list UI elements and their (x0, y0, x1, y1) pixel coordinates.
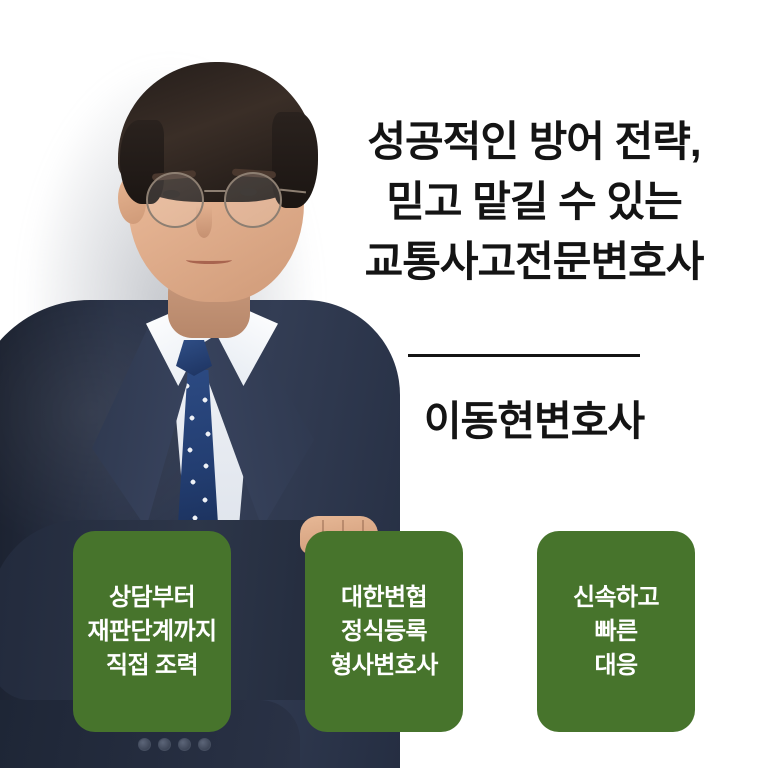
feature-card-1-line-1: 상담부터 (88, 581, 217, 615)
feature-card-3[interactable]: 신속하고 빠른 대응 (537, 531, 695, 732)
headline: 성공적인 방어 전략, 믿고 맡길 수 있는 교통사고전문변호사 (300, 112, 768, 292)
promo-banner: 성공적인 방어 전략, 믿고 맡길 수 있는 교통사고전문변호사 이동현변호사 … (0, 0, 768, 768)
glasses-bridge (204, 190, 226, 192)
nose (196, 206, 212, 238)
feature-card-2-line-2: 정식등록 (330, 615, 437, 649)
feature-card-3-line-2: 빠른 (573, 615, 659, 649)
headline-line-1: 성공적인 방어 전략, (300, 112, 768, 172)
feature-card-3-line-3: 대응 (573, 649, 659, 683)
feature-card-1-line-3: 직접 조력 (88, 649, 217, 683)
feature-card-2-line-3: 형사변호사 (330, 649, 437, 683)
divider (408, 354, 640, 357)
glasses-lens-right (224, 172, 282, 228)
feature-card-1[interactable]: 상담부터 재판단계까지 직접 조력 (73, 531, 231, 732)
glasses-icon (126, 168, 308, 234)
lawyer-name: 이동현변호사 (300, 398, 768, 444)
sleeve-button (158, 738, 171, 751)
feature-card-2[interactable]: 대한변협 정식등록 형사변호사 (305, 531, 463, 732)
feature-card-2-line-1: 대한변협 (330, 581, 437, 615)
feature-card-3-line-1: 신속하고 (573, 581, 659, 615)
sleeve-button (178, 738, 191, 751)
sleeve-button (198, 738, 211, 751)
feature-card-1-line-2: 재판단계까지 (88, 615, 217, 649)
headline-line-2: 믿고 맡길 수 있는 (300, 172, 768, 232)
mouth (186, 256, 232, 264)
sleeve-button (138, 738, 151, 751)
headline-line-3: 교통사고전문변호사 (300, 232, 768, 292)
feature-card-list: 상담부터 재판단계까지 직접 조력 대한변협 정식등록 형사변호사 신속하고 빠… (73, 531, 695, 732)
